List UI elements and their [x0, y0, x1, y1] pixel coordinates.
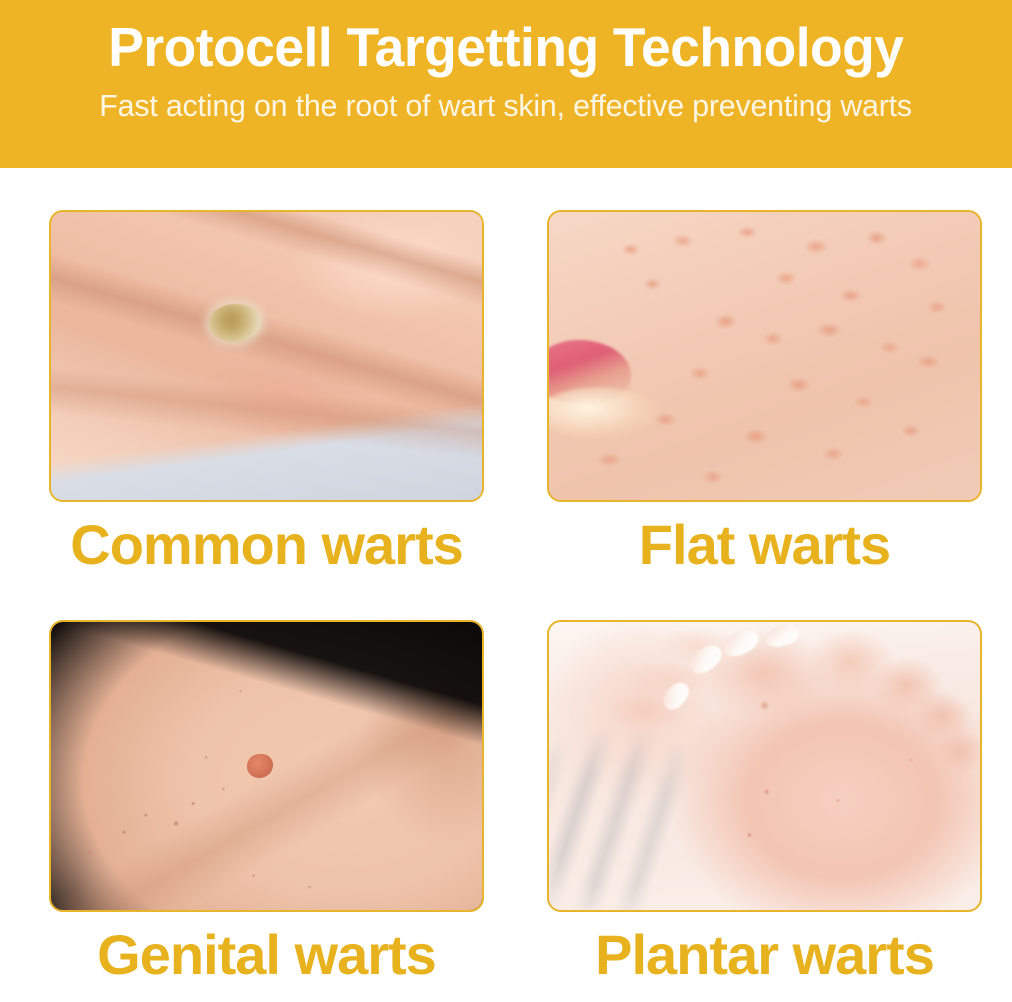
- lip-highlight: [547, 387, 659, 439]
- card-label-plantar-warts: Plantar warts: [595, 922, 934, 988]
- wart-card-plantar-warts: Plantar warts: [517, 578, 1012, 988]
- card-label-common-warts: Common warts: [70, 512, 463, 578]
- hand-with-common-wart-photo: [49, 210, 484, 502]
- fingernail: [763, 622, 801, 650]
- wart-lesions: [549, 622, 980, 910]
- cheek-skin-image: [549, 212, 980, 500]
- page-title: Protocell Targetting Technology: [108, 10, 903, 84]
- wart-card-genital-warts: Genital warts: [0, 578, 495, 988]
- hand-holding-foot: [557, 624, 757, 764]
- wart-types-grid: Common warts Flat warts Genital warts: [0, 168, 1012, 988]
- wart-card-common-warts: Common warts: [0, 168, 495, 578]
- card-label-genital-warts: Genital warts: [97, 922, 436, 988]
- card-label-flat-warts: Flat warts: [639, 512, 890, 578]
- wart-lesion: [209, 304, 261, 342]
- page-subtitle: Fast acting on the root of wart skin, ef…: [100, 84, 913, 128]
- neck-skin-image: [51, 622, 482, 910]
- fingernail: [720, 625, 762, 661]
- fingernail: [659, 678, 694, 714]
- neck-with-genital-wart-photo: [49, 620, 484, 912]
- hand-skin-image: [51, 212, 482, 500]
- header-banner: Protocell Targetting Technology Fast act…: [0, 0, 1012, 168]
- fingernail: [686, 640, 726, 678]
- wart-card-flat-warts: Flat warts: [517, 168, 1012, 578]
- face-with-flat-warts-photo: [547, 210, 982, 502]
- foot-with-plantar-warts-photo: [547, 620, 982, 912]
- foot-skin-image: [549, 622, 980, 910]
